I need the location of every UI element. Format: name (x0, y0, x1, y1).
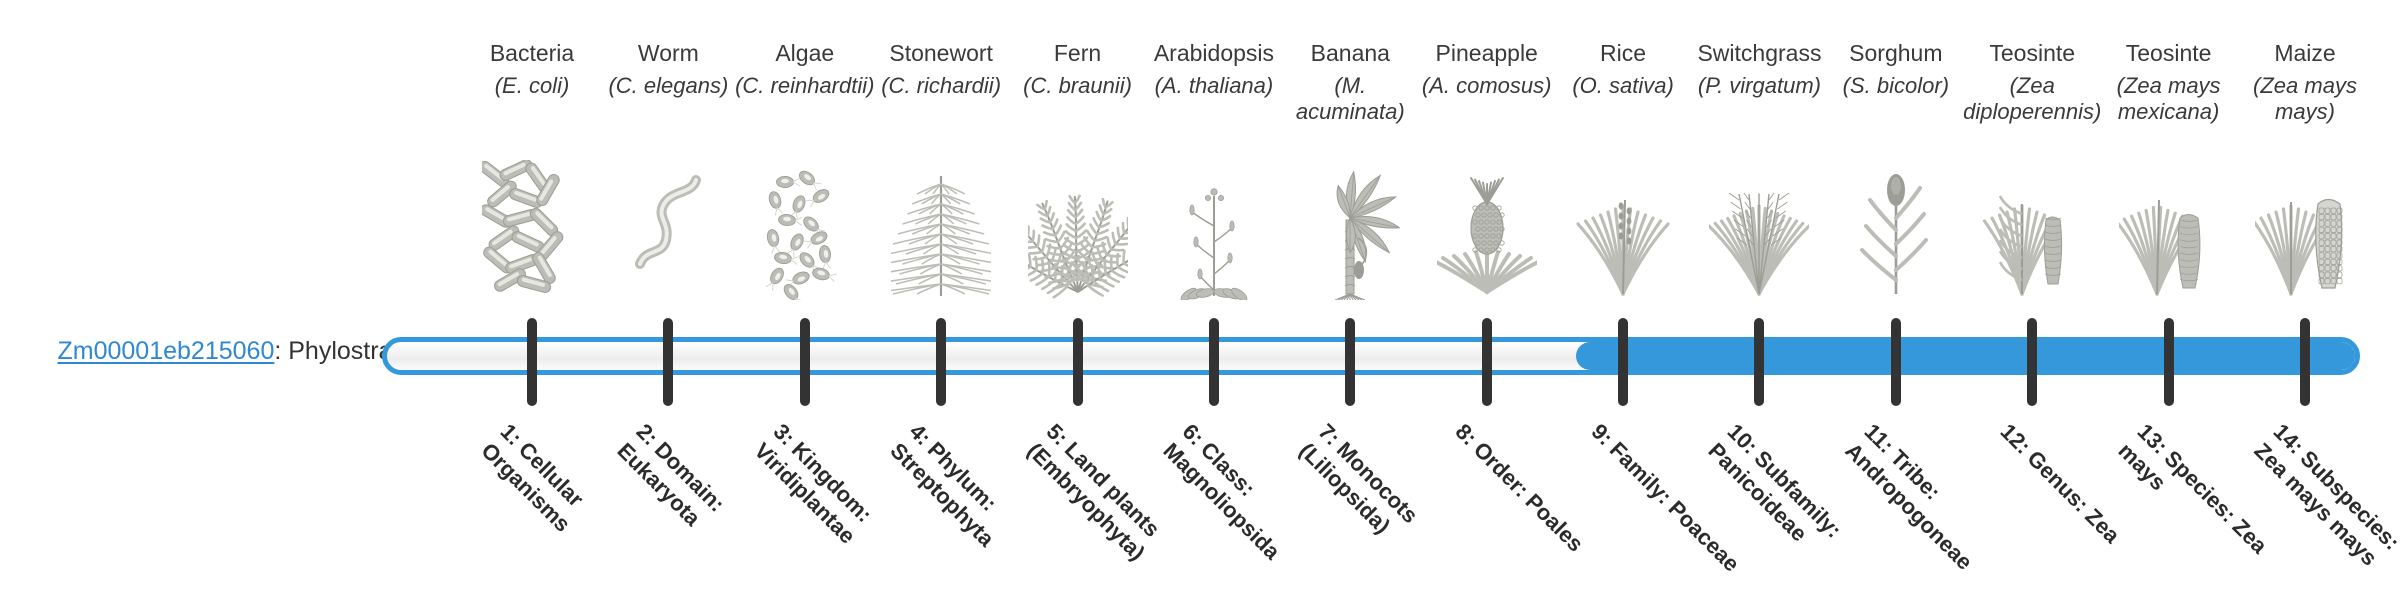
species-scientific-name: (C. elegans) (598, 73, 738, 99)
phylostratum-tick[interactable] (527, 318, 537, 406)
species-column: Fern(C. braunii) (1014, 0, 1142, 320)
species-common-name: Fern (1014, 40, 1142, 67)
phylostratum-tick[interactable] (936, 318, 946, 406)
species-common-name: Banana (1286, 40, 1414, 67)
phylostratum-tick[interactable] (800, 318, 810, 406)
phylostratum-progress-track[interactable] (382, 337, 2360, 375)
arabidopsis-illustration-icon (1164, 160, 1264, 300)
pineapple-plant-illustration-icon (1437, 160, 1537, 300)
phylostratum-tick[interactable] (1891, 318, 1901, 406)
species-scientific-name: (C. reinhardtii) (735, 73, 875, 99)
species-column: Stonewort(C. richardii) (877, 0, 1005, 320)
phylostratum-tick[interactable] (1482, 318, 1492, 406)
stonewort-illustration-icon (891, 160, 991, 300)
phylostratum-tick[interactable] (1209, 318, 1219, 406)
species-scientific-name: (C. braunii) (1008, 73, 1148, 99)
species-scientific-name: (A. thaliana) (1144, 73, 1284, 99)
species-scientific-name: (O. sativa) (1553, 73, 1693, 99)
phylostratum-tick[interactable] (1754, 318, 1764, 406)
teosinte-diploperennis-illustration-icon (1982, 160, 2082, 300)
species-common-name: Teosinte (1968, 40, 2096, 67)
species-common-name: Stonewort (877, 40, 1005, 67)
phylostratum-progress-fill (1576, 342, 2360, 370)
teosinte-mexicana-illustration-icon (2119, 160, 2219, 300)
phylostratum-tick[interactable] (1345, 318, 1355, 406)
species-common-name: Arabidopsis (1150, 40, 1278, 67)
species-common-name: Maize (2241, 40, 2369, 67)
species-scientific-name: (A. comosus) (1417, 73, 1557, 99)
species-common-name: Switchgrass (1695, 40, 1823, 67)
phylostratum-tick[interactable] (2164, 318, 2174, 406)
phylostratum-tick[interactable] (2027, 318, 2037, 406)
fern-illustration-icon (1028, 160, 1128, 300)
species-scientific-name: (S. bicolor) (1826, 73, 1966, 99)
species-common-name: Sorghum (1832, 40, 1960, 67)
species-scientific-name: (M. acuminata) (1280, 73, 1420, 125)
species-column: Teosinte(Zea diploperennis) (1968, 0, 2096, 320)
phylostratum-tick[interactable] (663, 318, 673, 406)
species-scientific-name: (P. virgatum) (1689, 73, 1829, 99)
species-column: Bacteria(E. coli) (468, 0, 596, 320)
species-column: Arabidopsis(A. thaliana) (1150, 0, 1278, 320)
algae-cells-illustration-icon (755, 160, 855, 300)
rice-plant-illustration-icon (1573, 160, 1673, 300)
species-common-name: Algae (741, 40, 869, 67)
maize-ear-illustration-icon (2255, 160, 2355, 300)
species-column: Worm(C. elegans) (604, 0, 732, 320)
bacteria-illustration-icon (482, 160, 582, 300)
species-common-name: Bacteria (468, 40, 596, 67)
species-common-name: Rice (1559, 40, 1687, 67)
species-column: Switchgrass(P. virgatum) (1695, 0, 1823, 320)
species-common-name: Teosinte (2105, 40, 2233, 67)
phylostratum-tick[interactable] (1618, 318, 1628, 406)
species-common-name: Pineapple (1423, 40, 1551, 67)
species-column: Maize(Zea mays mays) (2241, 0, 2369, 320)
species-scientific-name: (Zea diploperennis) (1962, 73, 2102, 125)
phylostratum-tick[interactable] (1073, 318, 1083, 406)
species-scientific-name: (Zea mays mays) (2235, 73, 2375, 125)
nematode-worm-illustration-icon (618, 160, 718, 300)
species-scientific-name: (C. richardii) (871, 73, 1011, 99)
switchgrass-illustration-icon (1709, 160, 1809, 300)
phylostratum-tick[interactable] (2300, 318, 2310, 406)
species-scientific-name: (E. coli) (462, 73, 602, 99)
species-column: Teosinte(Zea mays mexicana) (2105, 0, 2233, 320)
species-column: Banana(M. acuminata) (1286, 0, 1414, 320)
species-column: Rice(O. sativa) (1559, 0, 1687, 320)
species-column: Algae(C. reinhardtii) (741, 0, 869, 320)
sorghum-plant-illustration-icon (1846, 160, 1946, 300)
phylostratum-timeline-figure: Zm00001eb215060: Phylostratum 9 Bacteria… (0, 0, 2400, 580)
species-scientific-name: (Zea mays mexicana) (2099, 73, 2239, 125)
species-column: Sorghum(S. bicolor) (1832, 0, 1960, 320)
species-common-name: Worm (604, 40, 732, 67)
banana-plant-illustration-icon (1300, 160, 1400, 300)
species-column: Pineapple(A. comosus) (1423, 0, 1551, 320)
